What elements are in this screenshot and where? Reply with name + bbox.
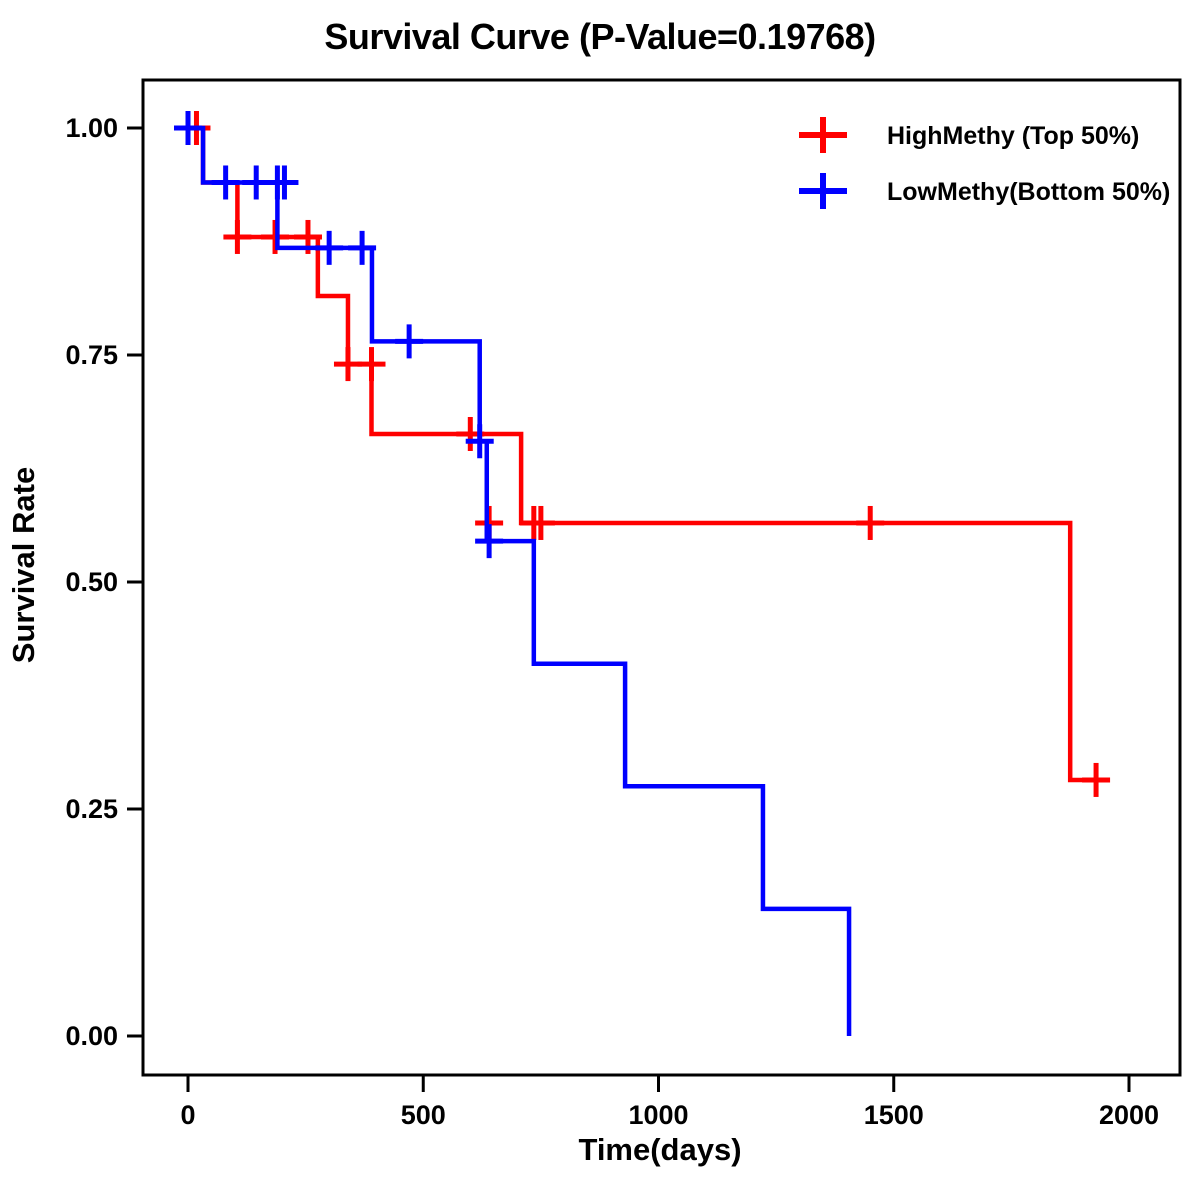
series-high-methy [182, 111, 1110, 797]
censor-plus-marker [475, 524, 503, 558]
legend-item[interactable]: HighMethy (Top 50%) [799, 117, 1139, 153]
survival-plot: 0.000.250.500.751.00 0500100015002000 Ti… [0, 0, 1200, 1200]
y-tick-label: 0.00 [65, 1021, 118, 1051]
legend-label: LowMethy(Bottom 50%) [887, 178, 1170, 206]
y-tick-label: 0.50 [65, 567, 118, 597]
x-tick-label: 0 [180, 1100, 195, 1130]
censor-plus-marker [395, 324, 423, 358]
y-tick-label: 1.00 [65, 113, 118, 143]
survival-chart-page: Survival Curve (P-Value=0.19768) 0.000.2… [0, 0, 1200, 1200]
series-step-line [188, 128, 1096, 780]
censor-plus-marker [270, 165, 298, 199]
censor-plus-marker [1082, 763, 1110, 797]
legend-label: HighMethy (Top 50%) [887, 122, 1139, 150]
x-axis-title: Time(days) [578, 1132, 741, 1167]
x-tick-label: 2000 [1099, 1100, 1159, 1130]
y-tick-label: 0.75 [65, 340, 118, 370]
censor-plus-marker [856, 506, 884, 540]
legend-item[interactable]: LowMethy(Bottom 50%) [799, 173, 1170, 209]
y-tick-label: 0.25 [65, 794, 118, 824]
y-axis-title: Survival Rate [6, 467, 41, 663]
x-tick-label: 1500 [864, 1100, 924, 1130]
series-step-line [188, 128, 849, 1036]
series-low-methy [174, 111, 849, 1036]
censor-plus-marker [223, 220, 251, 254]
x-tick-label: 1000 [628, 1100, 688, 1130]
censor-plus-marker [357, 347, 385, 381]
plot-frame [143, 80, 1180, 1075]
x-tick-label: 500 [401, 1100, 446, 1130]
censor-plus-marker [527, 506, 555, 540]
y-axis-ticks: 0.000.250.500.751.00 [65, 113, 143, 1051]
series-layer [174, 111, 1110, 1036]
legend: HighMethy (Top 50%)LowMethy(Bottom 50%) [799, 117, 1170, 209]
x-axis-ticks: 0500100015002000 [180, 1075, 1159, 1130]
